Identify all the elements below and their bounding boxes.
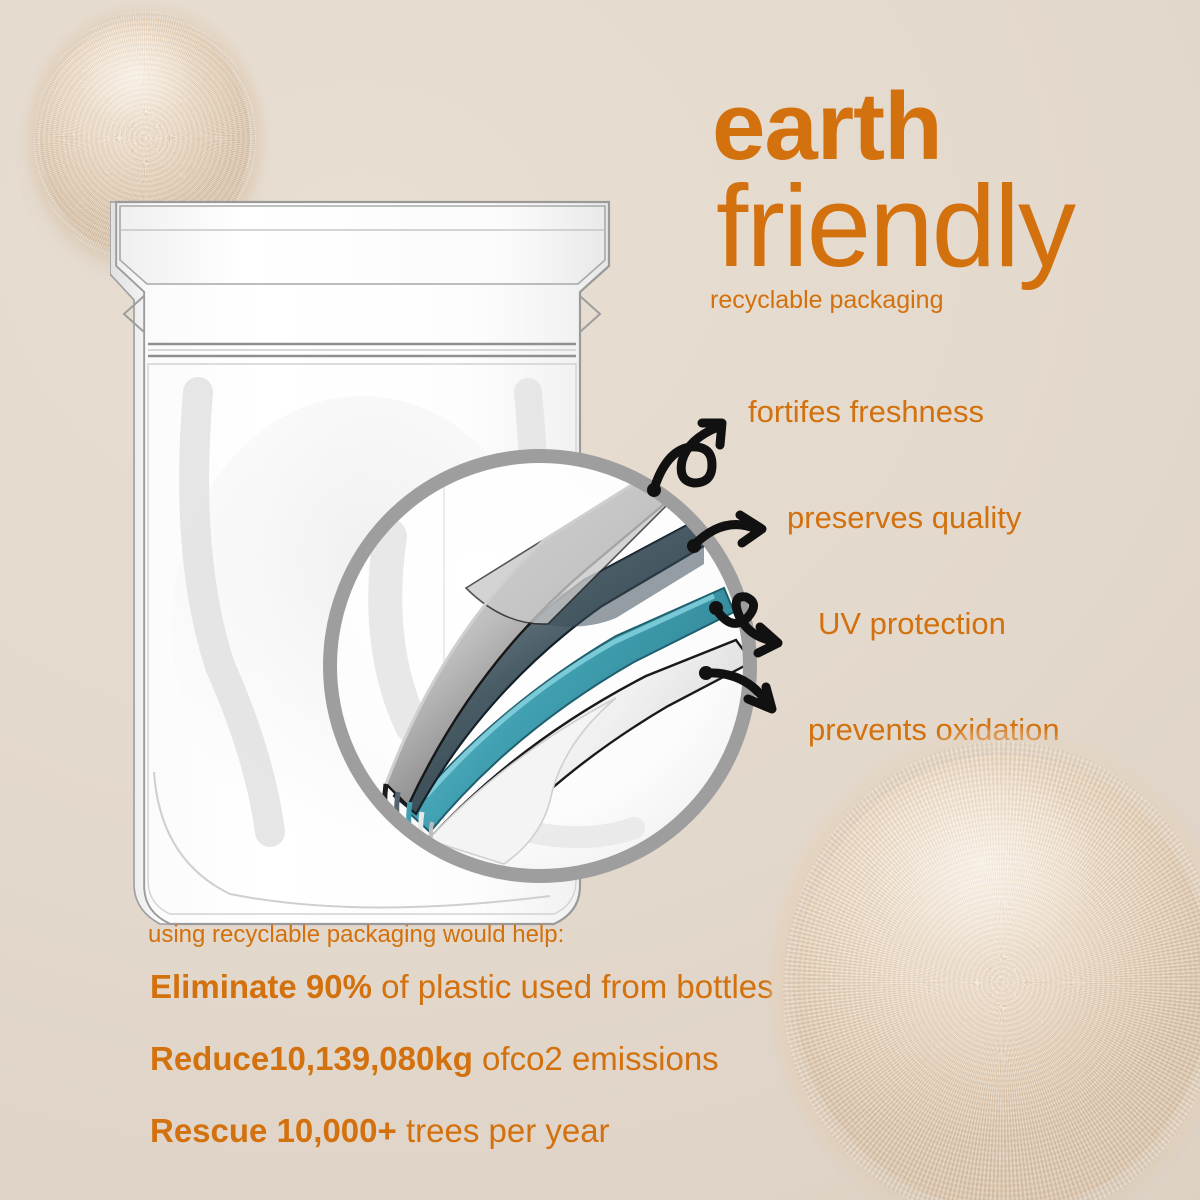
pouch-tear-notch-right (580, 296, 600, 332)
fur-ball-decoration-bottom-right (795, 755, 1200, 1200)
arrow-uv-protection-icon (716, 597, 778, 653)
stat-row-rescue: Rescue 10,000+ trees per year (150, 1112, 610, 1150)
stat-row-reduce: Reduce10,139,080kg ofco2 emissions (150, 1040, 719, 1078)
arrow-prevents-oxidation-icon (706, 673, 772, 709)
stat-rest: of plastic used from bottles (372, 968, 774, 1005)
pouch-top-seal (120, 206, 605, 284)
fur-highlight (795, 755, 1200, 1200)
arrow-fortifes-freshness-icon (654, 423, 722, 489)
callout-arrows (620, 395, 850, 725)
arrow-preserves-quality-icon (694, 515, 762, 545)
lens-pouch-highlight-bottom (530, 828, 634, 837)
arrow-4-dot (699, 666, 713, 680)
arrow-1-dot (647, 483, 661, 497)
arrow-3-dot (709, 601, 723, 615)
stat-rest: trees per year (397, 1112, 610, 1149)
stat-emphasis: Eliminate 90% (150, 968, 372, 1005)
poster-canvas: earth friendly recyclable packaging fort… (0, 0, 1200, 1200)
stat-emphasis: Rescue 10,000+ (150, 1112, 397, 1149)
stat-emphasis: Reduce10,139,080kg (150, 1040, 473, 1077)
stats-intro-text: using recyclable packaging would help: (148, 921, 564, 949)
headline-line-2: friendly (716, 168, 1074, 284)
arrow-2-dot (687, 539, 701, 553)
stat-rest: ofco2 emissions (473, 1040, 719, 1077)
headline-subtitle: recyclable packaging (710, 286, 943, 315)
stat-row-eliminate: Eliminate 90% of plastic used from bottl… (150, 968, 774, 1006)
